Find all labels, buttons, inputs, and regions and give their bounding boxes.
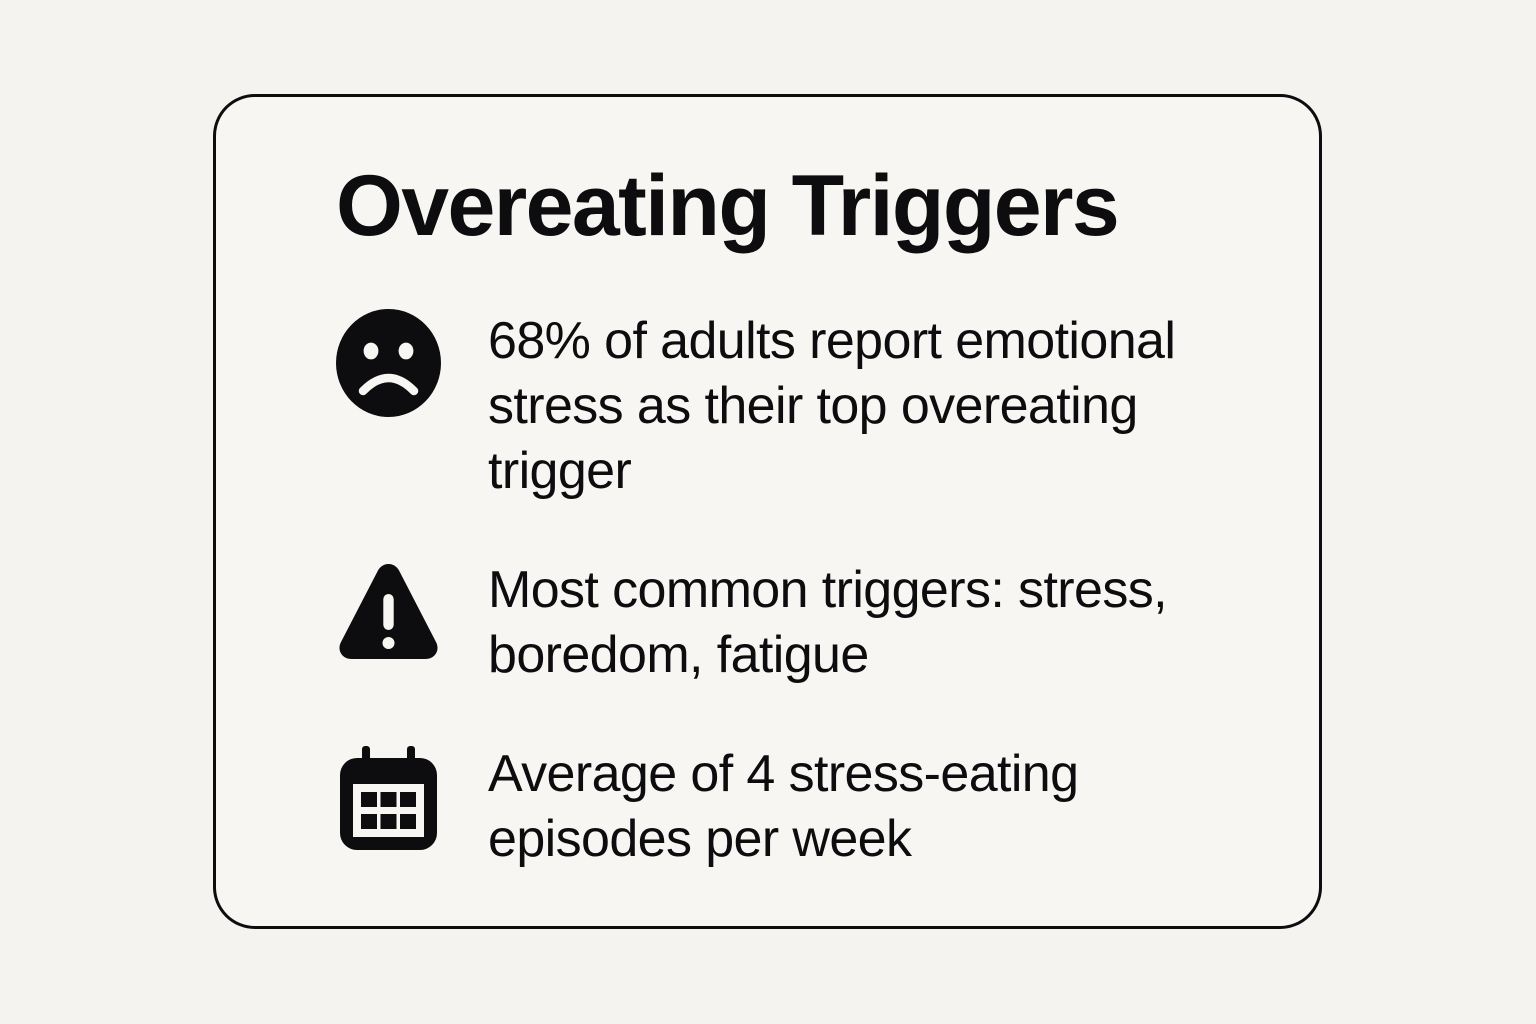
list-item-text: Most common triggers: stress, boredom, f…: [488, 556, 1248, 688]
list-item: Average of 4 stress-eating episodes per …: [336, 740, 1259, 872]
overeating-triggers-card: Overeating Triggers 68% of adults report…: [213, 94, 1322, 929]
sad-face-icon: [336, 309, 441, 417]
list-item-text: 68% of adults report emotional stress as…: [488, 307, 1248, 504]
warning-triangle-icon: [336, 556, 441, 664]
page-title: Overeating Triggers: [336, 163, 1259, 249]
infographic-stage: Overeating Triggers 68% of adults report…: [0, 0, 1536, 1024]
list-item-text: Average of 4 stress-eating episodes per …: [488, 740, 1248, 872]
calendar-icon: [336, 744, 441, 852]
card-content: Overeating Triggers 68% of adults report…: [336, 163, 1259, 872]
fact-list: 68% of adults report emotional stress as…: [336, 307, 1259, 872]
list-item: Most common triggers: stress, boredom, f…: [336, 556, 1259, 688]
list-item: 68% of adults report emotional stress as…: [336, 307, 1259, 504]
